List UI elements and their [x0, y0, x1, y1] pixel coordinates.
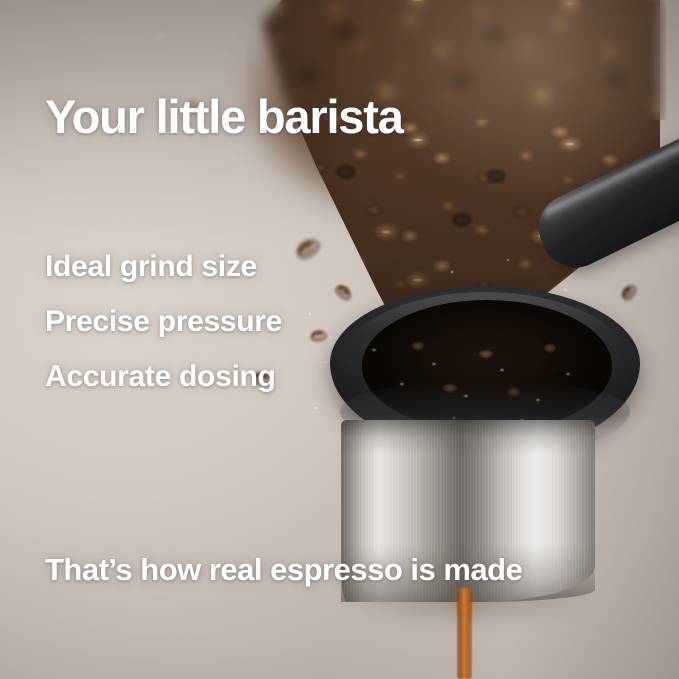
product-marketing-image: Your little barista Ideal grind size Pre…	[0, 0, 679, 679]
feature-item-dosing: Accurate dosing	[45, 362, 276, 392]
falling-bean	[292, 234, 324, 263]
feature-item-grind-size: Ideal grind size	[45, 252, 257, 282]
tagline: That’s how real espresso is made	[45, 554, 522, 585]
falling-bean	[148, 25, 174, 46]
headline: Your little barista	[45, 93, 403, 140]
espresso-stream	[457, 588, 472, 679]
steel-top-shade	[341, 420, 595, 454]
feature-item-pressure: Precise pressure	[45, 307, 282, 337]
